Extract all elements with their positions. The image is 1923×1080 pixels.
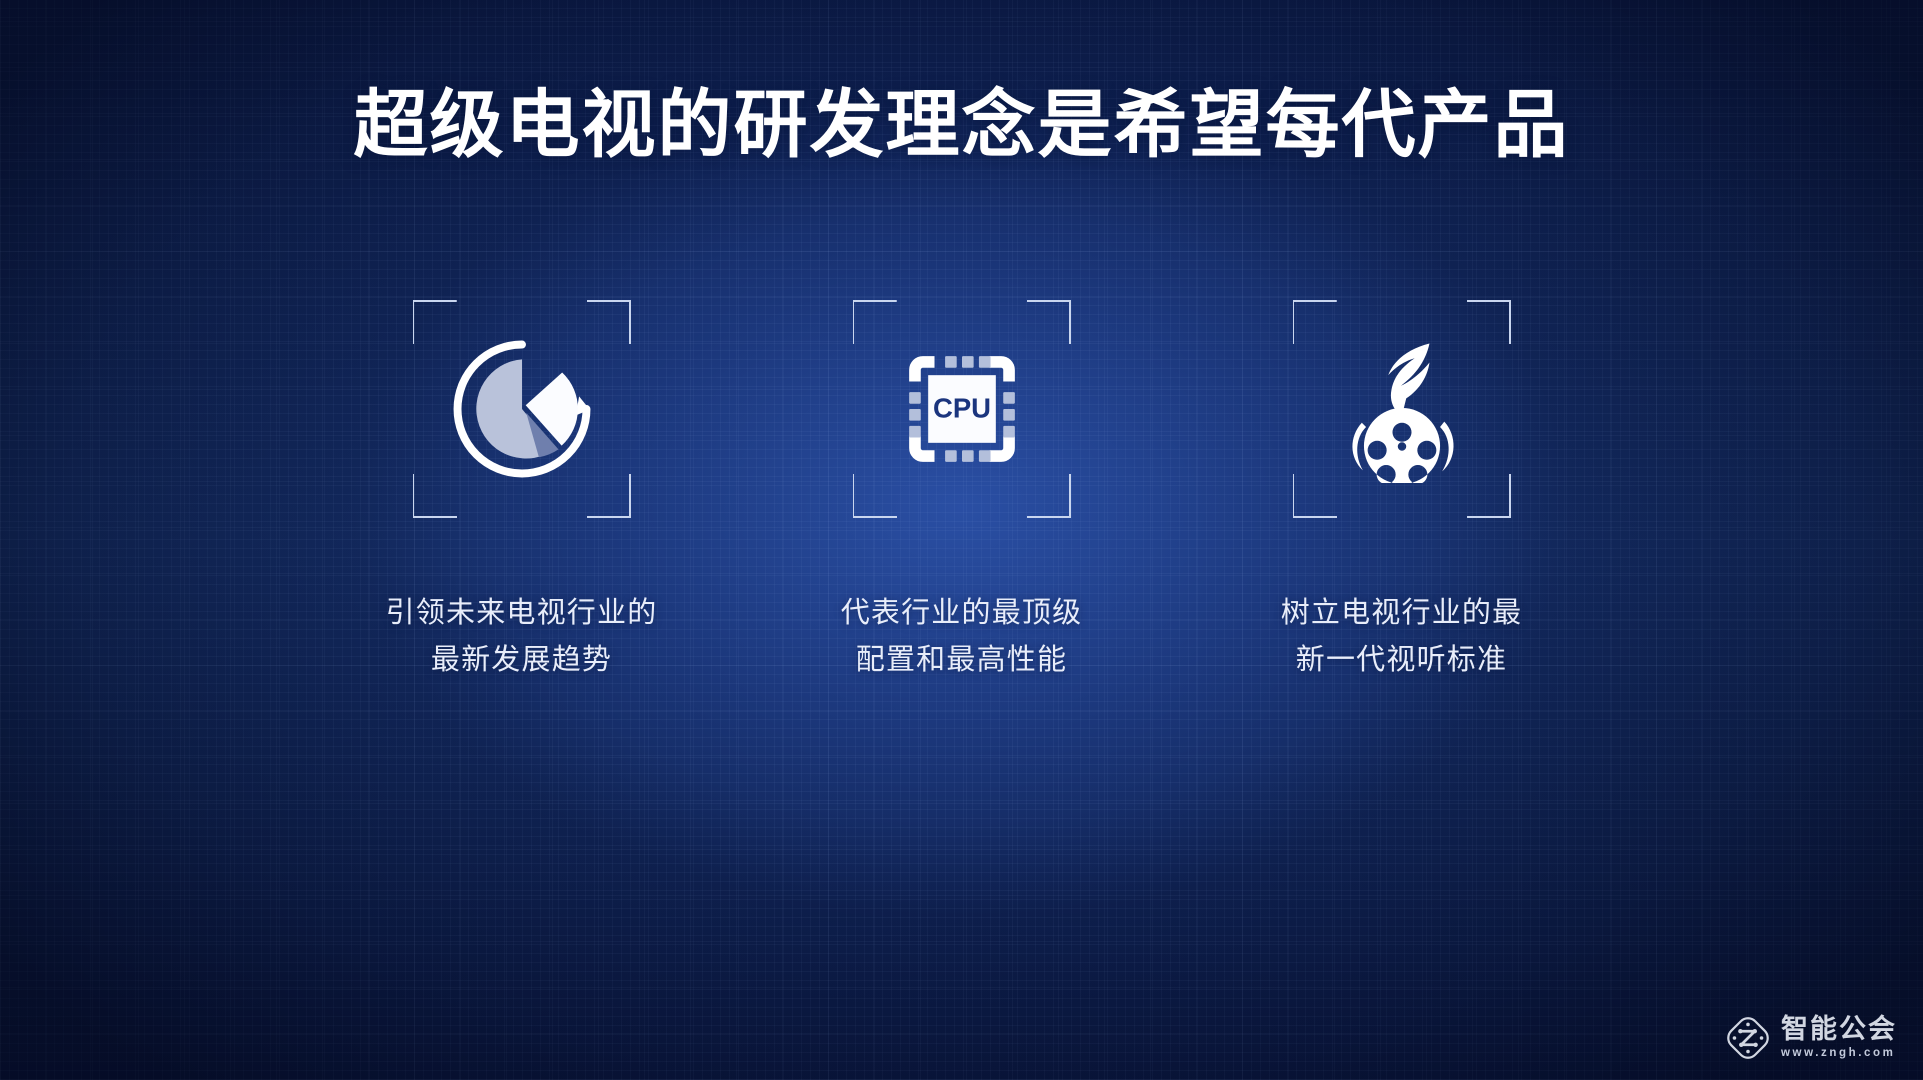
watermark-name: 智能公会 bbox=[1781, 1016, 1897, 1043]
cpu-label: CPU bbox=[933, 392, 991, 423]
caption-line-2: 新一代视听标准 bbox=[1281, 637, 1523, 684]
frame-corner-top-left bbox=[413, 300, 457, 344]
slide-title: 超级电视的研发理念是希望每代产品 bbox=[0, 86, 1923, 164]
watermark-url: www.zngh.com bbox=[1781, 1048, 1897, 1060]
feature-item-standards: 树立电视行业的最 新一代视听标准 bbox=[1252, 300, 1552, 684]
icon-frame bbox=[413, 300, 631, 518]
frame-corner-bottom-left bbox=[1293, 474, 1337, 518]
frame-corner-bottom-right bbox=[1467, 474, 1511, 518]
feature-row: 引领未来电视行业的 最新发展趋势 bbox=[0, 300, 1923, 684]
feature-caption: 引领未来电视行业的 最新发展趋势 bbox=[386, 590, 658, 684]
frame-corner-bottom-left bbox=[853, 474, 897, 518]
caption-line-1: 树立电视行业的最 bbox=[1281, 590, 1523, 637]
frame-corner-top-right bbox=[587, 300, 631, 344]
frame-corner-top-left bbox=[1293, 300, 1337, 344]
caption-line-2: 配置和最高性能 bbox=[841, 637, 1083, 684]
zngh-diamond-logo bbox=[1726, 1016, 1770, 1060]
frame-corner-top-left bbox=[853, 300, 897, 344]
film-reel-icon bbox=[1328, 335, 1476, 483]
frame-corner-bottom-right bbox=[1027, 474, 1071, 518]
watermark: 智能公会 www.zngh.com bbox=[1726, 1016, 1897, 1060]
presentation-slide: 超级电视的研发理念是希望每代产品 bbox=[0, 0, 1923, 1080]
frame-corner-top-right bbox=[1467, 300, 1511, 344]
feature-caption: 代表行业的最顶级 配置和最高性能 bbox=[841, 590, 1083, 684]
cpu-chip-icon: CPU bbox=[888, 335, 1036, 483]
frame-corner-bottom-right bbox=[587, 474, 631, 518]
watermark-text: 智能公会 www.zngh.com bbox=[1781, 1016, 1897, 1060]
frame-corner-bottom-left bbox=[413, 474, 457, 518]
feature-item-trends: 引领未来电视行业的 最新发展趋势 bbox=[372, 300, 672, 684]
caption-line-1: 代表行业的最顶级 bbox=[841, 590, 1083, 637]
frame-corner-top-right bbox=[1027, 300, 1071, 344]
icon-frame: CPU bbox=[853, 300, 1071, 518]
caption-line-1: 引领未来电视行业的 bbox=[386, 590, 658, 637]
pie-chart-icon bbox=[448, 335, 596, 483]
icon-frame bbox=[1293, 300, 1511, 518]
caption-line-2: 最新发展趋势 bbox=[386, 637, 658, 684]
feature-item-performance: CPU 代表行业的最顶级 配置和最高性能 bbox=[812, 300, 1112, 684]
feature-caption: 树立电视行业的最 新一代视听标准 bbox=[1281, 590, 1523, 684]
